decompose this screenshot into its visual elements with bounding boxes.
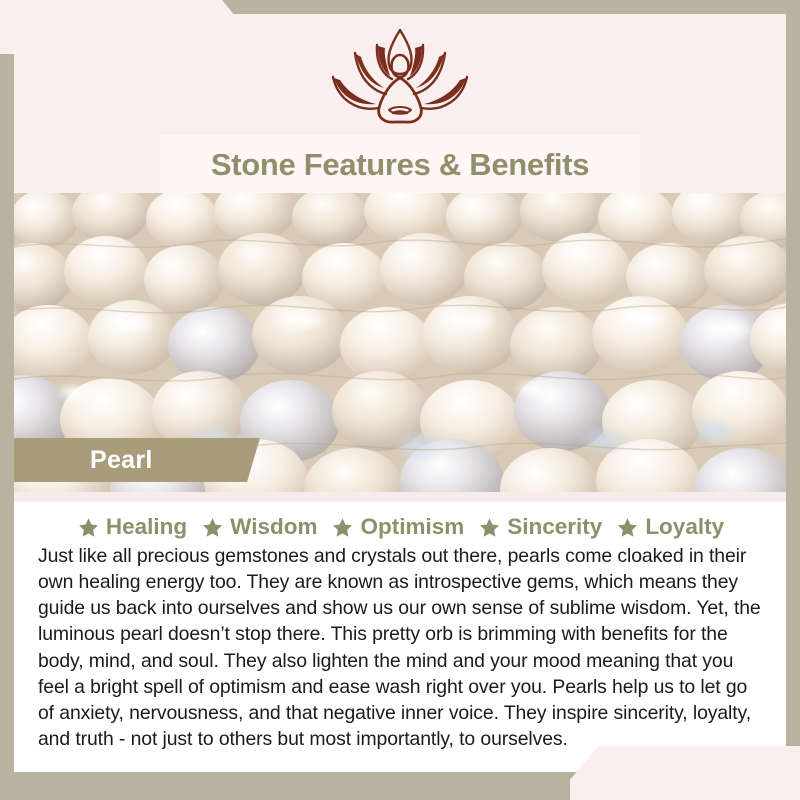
content-panel: Healing Wisdom Optimism xyxy=(14,502,786,772)
description-text: Just like all precious gemstones and cry… xyxy=(38,543,764,753)
card-body: BUDDHA STONES Stone Features & Benefits xyxy=(14,14,786,772)
hero-image: Pearl xyxy=(14,193,786,492)
benefit-label: Optimism xyxy=(360,516,464,539)
benefit-label: Sincerity xyxy=(507,516,602,539)
divider-sliver xyxy=(14,492,786,502)
stone-name-band: Pearl xyxy=(14,438,260,482)
stone-name: Pearl xyxy=(14,448,153,473)
benefit-item-sincerity: Sincerity xyxy=(479,516,602,539)
benefit-label: Wisdom xyxy=(230,516,317,539)
benefit-item-wisdom: Wisdom xyxy=(202,516,317,539)
frame-notch-bottom-right xyxy=(570,746,800,800)
star-icon xyxy=(617,517,638,538)
star-icon xyxy=(78,517,99,538)
title-plaque: Stone Features & Benefits xyxy=(160,135,640,193)
benefit-item-loyalty: Loyalty xyxy=(617,516,724,539)
benefit-item-healing: Healing xyxy=(78,516,187,539)
benefit-label: Loyalty xyxy=(645,516,724,539)
page-title: Stone Features & Benefits xyxy=(211,149,589,180)
benefits-row: Healing Wisdom Optimism xyxy=(38,516,764,539)
frame-notch-top-left xyxy=(0,0,250,54)
star-icon xyxy=(479,517,500,538)
benefit-label: Healing xyxy=(106,516,187,539)
infographic-card: BUDDHA STONES Stone Features & Benefits xyxy=(0,0,800,800)
lotus-meditation-icon xyxy=(310,24,490,134)
star-icon xyxy=(332,517,353,538)
benefit-item-optimism: Optimism xyxy=(332,516,464,539)
star-icon xyxy=(202,517,223,538)
